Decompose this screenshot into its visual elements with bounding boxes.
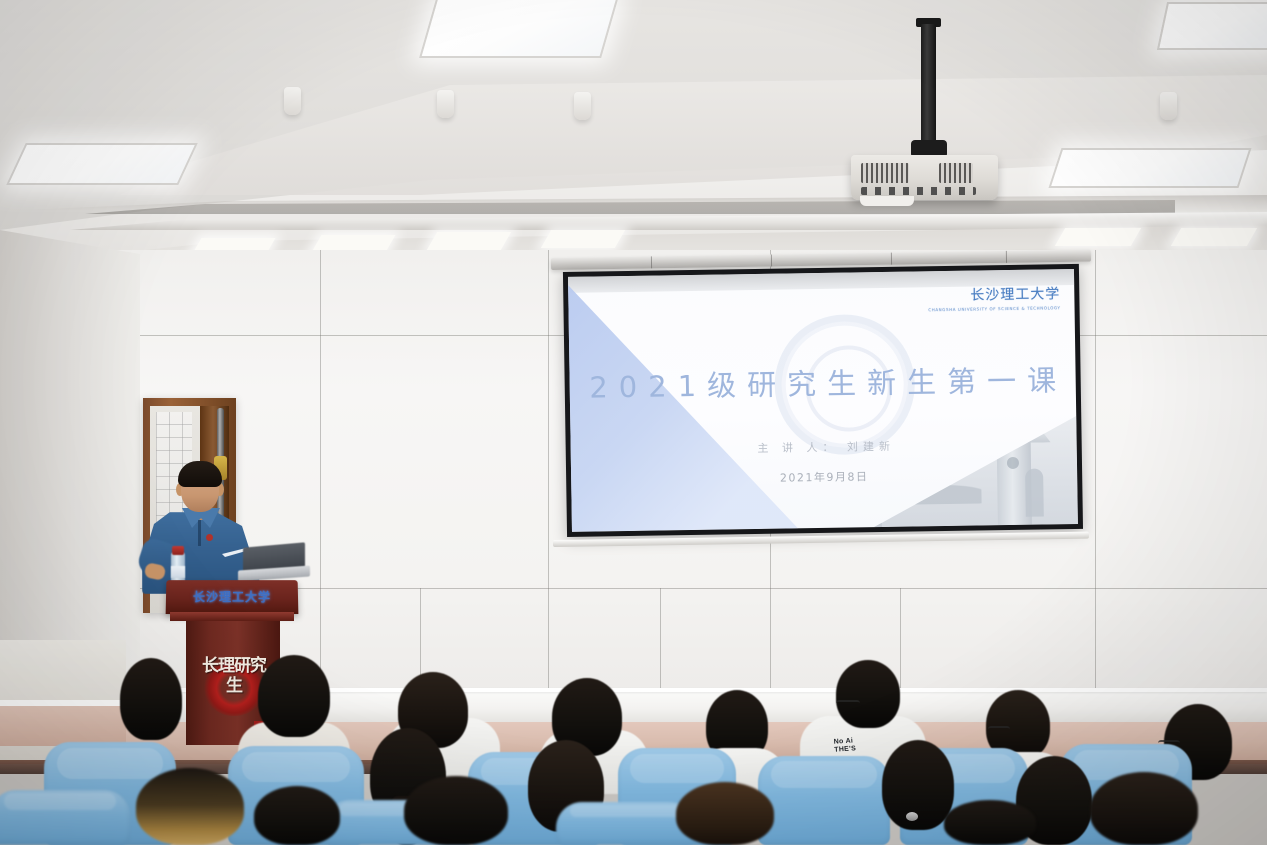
university-logo: 长沙理工大学 CHANGSHA UNIVERSITY OF SCIENCE & … <box>928 283 1061 312</box>
audience-head <box>404 776 508 845</box>
podium-university-text: 长沙理工大学 <box>166 588 298 605</box>
wall-panel-seam <box>660 588 661 690</box>
hair-tie <box>906 812 918 821</box>
eyeglasses <box>988 726 1010 733</box>
ceiling-panel-light <box>6 143 198 185</box>
ceiling-panel-light <box>1157 2 1267 50</box>
eyeglasses <box>836 700 860 707</box>
audience-head <box>836 660 900 728</box>
wall-panel-seam <box>900 588 901 690</box>
auditorium-chair[interactable] <box>0 790 130 845</box>
ceiling-projector <box>851 155 998 200</box>
ceiling-downlight <box>284 87 301 115</box>
far-ceiling-light <box>1171 228 1257 246</box>
far-ceiling-light <box>1055 228 1141 246</box>
projector-vent <box>861 163 909 183</box>
slide-campus-building <box>809 493 882 528</box>
audience-head <box>258 655 330 737</box>
ceiling-downlight <box>574 92 591 120</box>
projector-lens-housing <box>860 196 914 206</box>
wall-panel-seam <box>320 250 321 690</box>
audience-head <box>882 740 954 830</box>
ceiling-panel-light <box>419 0 619 58</box>
podium-top: 长沙理工大学 <box>166 580 299 614</box>
audience-head <box>254 786 340 845</box>
projector-mount-pole <box>921 24 936 144</box>
ceiling-panel-light <box>1049 148 1252 188</box>
audience-head <box>676 782 774 845</box>
audience-head <box>120 658 182 740</box>
speaker-shirt-placket <box>198 520 201 546</box>
university-logo-text: 长沙理工大学 <box>970 286 1060 303</box>
presentation-slide: 长沙理工大学 CHANGSHA UNIVERSITY OF SCIENCE & … <box>568 269 1078 532</box>
ceiling-downlight <box>437 90 454 118</box>
wall-panel-seam <box>548 250 549 690</box>
auditorium-chair[interactable] <box>556 802 696 845</box>
far-ceiling-light <box>541 230 625 248</box>
university-logo-subtext: CHANGSHA UNIVERSITY OF SCIENCE & TECHNOL… <box>928 305 1060 312</box>
wall-panel-seam <box>1095 250 1096 690</box>
podium-top-edge <box>170 612 294 621</box>
slide-campus-gate-arch <box>1025 468 1044 516</box>
water-bottle-label <box>171 566 185 578</box>
lecture-hall-photo: 长沙理工大学 CHANGSHA UNIVERSITY OF SCIENCE & … <box>0 0 1267 845</box>
projector-ports <box>861 187 976 195</box>
ceiling-downlight <box>1160 92 1177 120</box>
water-bottle-cap <box>172 546 184 555</box>
clip-microphone <box>206 534 213 541</box>
audience-head <box>944 800 1036 845</box>
audience-head <box>136 768 244 845</box>
stage-step-band <box>0 706 126 746</box>
far-ceiling-light <box>427 232 511 250</box>
speaker-hair <box>178 461 222 487</box>
tshirt-text: No Ai THE'S <box>833 737 856 754</box>
projector-vent <box>939 163 973 183</box>
audience-head <box>1090 772 1198 845</box>
slide-title: 2021级研究生新生第一课 <box>569 357 1076 407</box>
auditorium-chair[interactable] <box>758 756 890 845</box>
projection-screen: 长沙理工大学 CHANGSHA UNIVERSITY OF SCIENCE & … <box>563 264 1083 537</box>
